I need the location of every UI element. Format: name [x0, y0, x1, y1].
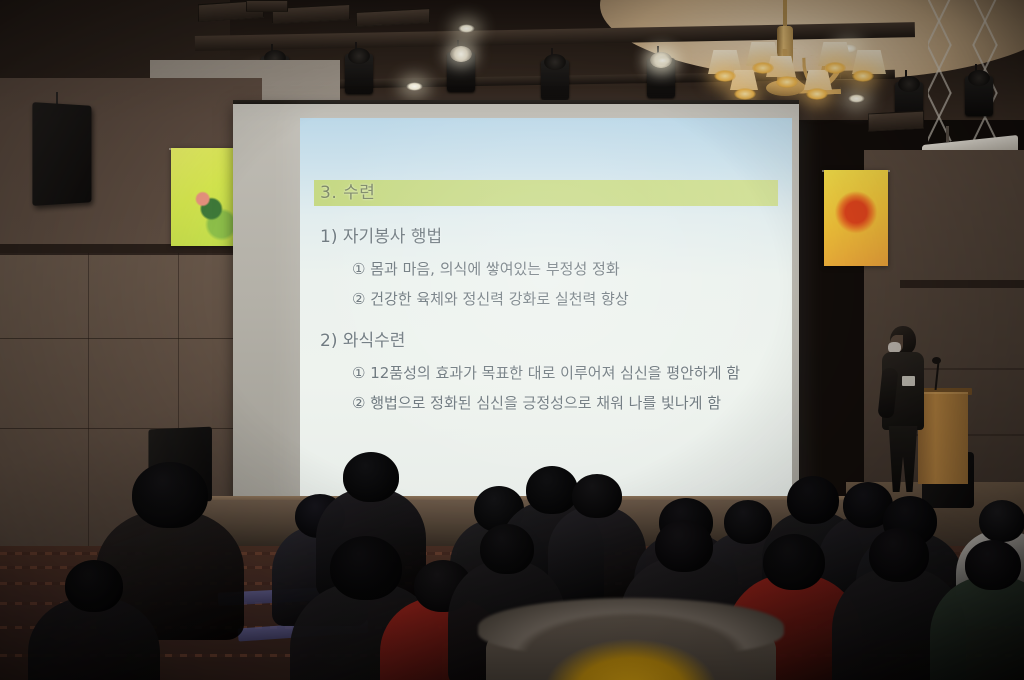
slide-subitem-2-2: ② 행법으로 정화된 심신을 긍정성으로 채워 나를 빛나게 함 [352, 392, 721, 413]
recessed-downlight [406, 82, 423, 91]
audience-member-head [869, 528, 929, 582]
chandelier-bulb [734, 88, 756, 100]
audience-member-body [930, 576, 1024, 680]
chandelier-bulb [752, 62, 774, 74]
stage-spotlight [342, 42, 376, 98]
wall-seam-right [912, 368, 1024, 370]
audience-member-head [979, 500, 1024, 542]
presenter [878, 326, 926, 494]
projector-mount [946, 126, 949, 142]
presentation-slide: 3. 수련 1) 자기봉사 행법 ① 몸과 마음, 의식에 쌓여있는 부정성 정… [300, 118, 792, 496]
slide-item-2: 2) 와식수련 [320, 326, 405, 351]
audience-member-head [572, 474, 622, 518]
audience-member-head [655, 520, 713, 572]
wall-speaker-left [32, 102, 91, 206]
chandelier-bulb [806, 88, 828, 100]
recessed-downlight [458, 24, 475, 33]
stage-spotlight [444, 40, 478, 96]
presenter-name-badge [902, 376, 915, 386]
slide-title-bar [314, 180, 778, 206]
slide-item-1: 1) 자기봉사 행법 [320, 222, 442, 247]
audience-member [28, 560, 160, 680]
audience-member-head [480, 524, 534, 574]
slide-subitem-1-1: ① 몸과 마음, 의식에 쌓여있는 부정성 정화 [352, 258, 620, 279]
chandelier-shade [804, 70, 832, 90]
chandelier-bulb [776, 76, 798, 88]
foreground-hood-fur-trim [478, 598, 784, 656]
auditorium-scene: 3. 수련 1) 자기봉사 행법 ① 몸과 마음, 의식에 쌓여있는 부정성 정… [0, 0, 1024, 680]
audience-member [930, 540, 1024, 680]
light-housing [868, 111, 924, 132]
audience-member-head [763, 534, 825, 590]
podium-microphone [932, 357, 941, 364]
audience-member-head [343, 452, 399, 502]
slide-subitem-2-1: ① 12품성의 효과가 목표한 대로 이루어져 심신을 평안하게 함 [352, 362, 740, 383]
stage-spotlight [538, 48, 572, 104]
audience-member-head [65, 560, 123, 612]
audience-member-head [965, 540, 1021, 590]
stage-spotlight [962, 64, 996, 120]
art-banner-right [824, 170, 888, 266]
chandelier-bulb [852, 70, 874, 82]
chandelier-bulb [714, 70, 736, 82]
ceiling-duct [246, 0, 288, 12]
audience-member-head [132, 462, 208, 528]
stage-spotlight [644, 46, 678, 102]
wall-trim-right [900, 280, 1024, 288]
chandelier-bulb [824, 62, 846, 74]
recessed-downlight [654, 56, 671, 65]
slide-title: 3. 수련 [320, 180, 375, 206]
slide-subitem-1-2: ② 건강한 육체와 정신력 강화로 실천력 향상 [352, 288, 629, 309]
